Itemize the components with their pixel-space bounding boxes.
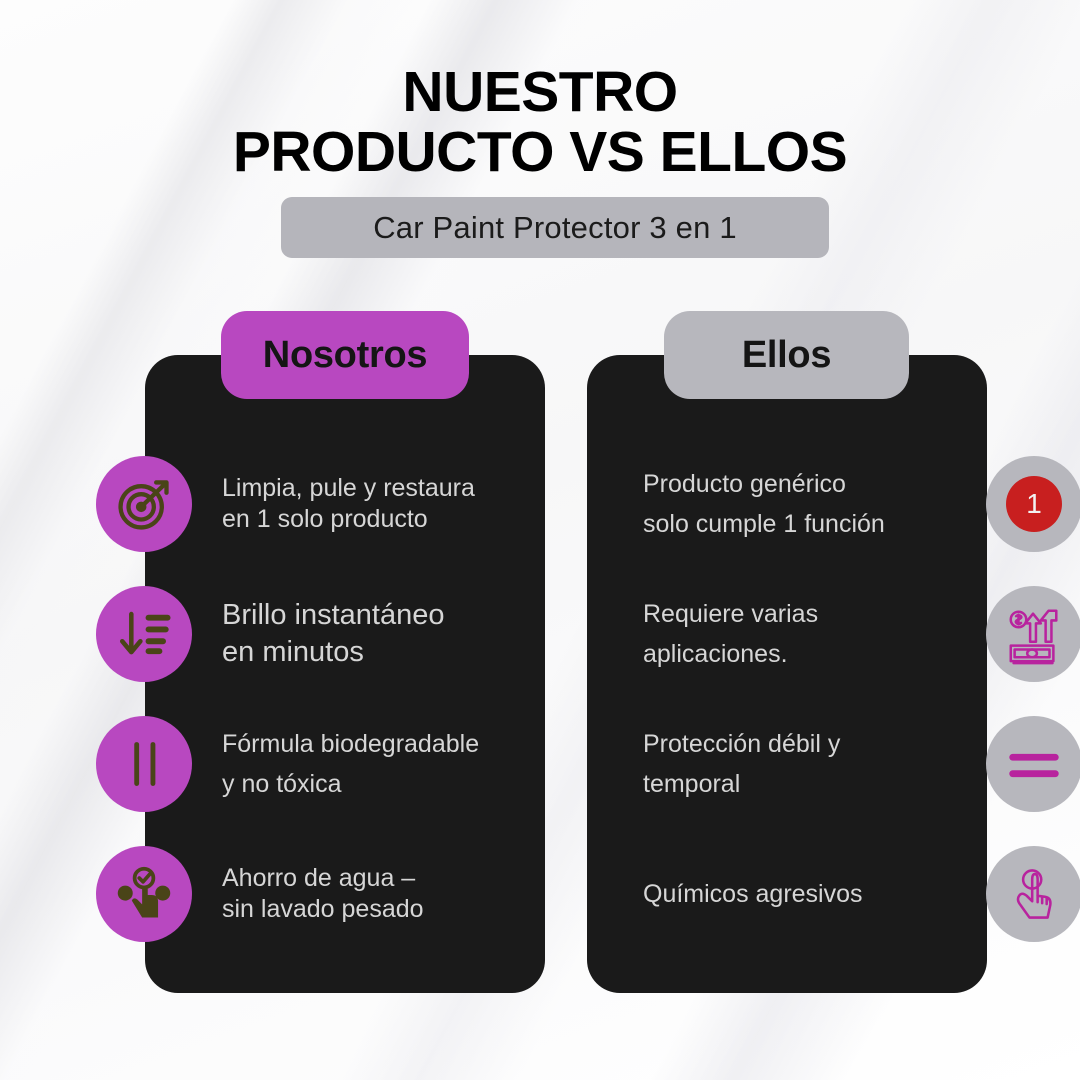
list-item: Ahorro de agua – sin lavado pesado <box>96 842 566 946</box>
list-item: Químicos agresivos <box>641 842 1041 946</box>
list-item-label: Protección débil y temporal <box>643 724 840 804</box>
list-item-label: Brillo instantáneo en minutos <box>222 597 444 670</box>
competitor-badge: Ellos <box>664 311 909 399</box>
list-item-label: Ahorro de agua – sin lavado pesado <box>222 863 424 926</box>
list-item-label: Limpia, pule y restaura en 1 solo produc… <box>222 473 475 536</box>
equals-sign-icon <box>986 716 1080 812</box>
list-item-label: Fórmula biodegradable y no tóxica <box>222 724 479 805</box>
list-item-label: Producto genérico solo cumple 1 función <box>643 464 885 544</box>
our-product-badge-label: Nosotros <box>263 334 427 377</box>
number-one-badge-icon: 1 <box>986 456 1080 552</box>
product-subtitle-text: Car Paint Protector 3 en 1 <box>373 210 737 246</box>
list-item: 1 Producto genérico solo cumple 1 funció… <box>641 452 1041 556</box>
product-subtitle-pill: Car Paint Protector 3 en 1 <box>281 197 829 258</box>
list-item: Requiere varias aplicaciones. <box>641 582 1041 686</box>
page-title: NUESTRO PRODUCTO VS ELLOS <box>0 62 1080 183</box>
infographic-canvas: NUESTRO PRODUCTO VS ELLOS Car Paint Prot… <box>0 0 1080 1080</box>
list-item: Protección débil y temporal <box>641 712 1041 816</box>
money-rising-cost-icon <box>986 586 1080 682</box>
hand-tap-icon <box>986 846 1080 942</box>
number-one-badge-value: 1 <box>1006 476 1062 532</box>
list-item: Limpia, pule y restaura en 1 solo produc… <box>96 452 566 556</box>
sort-descending-icon <box>96 586 192 682</box>
list-item: Brillo instantáneo en minutos <box>96 582 566 686</box>
pause-bars-icon <box>96 716 192 812</box>
our-product-badge: Nosotros <box>221 311 469 399</box>
target-arrow-icon <box>96 456 192 552</box>
list-item-label: Requiere varias aplicaciones. <box>643 594 818 674</box>
list-item-label: Químicos agresivos <box>643 874 863 914</box>
list-item: Fórmula biodegradable y no tóxica <box>96 712 566 816</box>
competitor-badge-label: Ellos <box>742 334 831 377</box>
hand-choice-check-icon <box>96 846 192 942</box>
